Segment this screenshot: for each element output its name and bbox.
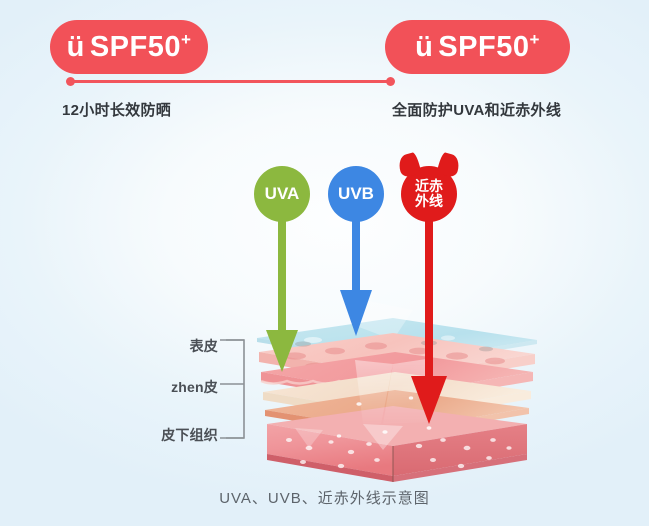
spf-badge-left: üSPF50+ xyxy=(50,20,208,74)
spf-badge-right: üSPF50+ xyxy=(385,20,570,74)
spf-badge-left-superscript: + xyxy=(181,30,191,50)
poster-canvas: üSPF50+ üSPF50+ 12小时长效防晒 全面防护UVA和近赤外线 xyxy=(0,0,649,526)
connector-dot-left xyxy=(66,77,75,86)
feature-caption-right: 全面防护UVA和近赤外线 xyxy=(392,99,561,120)
devil-horn-left-icon xyxy=(396,152,421,179)
check-mark-icon: ü xyxy=(415,31,433,64)
spf-badge-right-superscript: + xyxy=(529,30,539,50)
spf-badge-right-label: SPF50 xyxy=(438,31,529,64)
infrared-marker: 近赤 外线 xyxy=(401,166,457,222)
infrared-label-line2: 外线 xyxy=(415,194,443,209)
connector-dot-right xyxy=(386,77,395,86)
uva-label: UVA xyxy=(265,185,300,203)
uvb-marker-head: UVB xyxy=(328,166,384,222)
uvb-label: UVB xyxy=(338,185,374,203)
feature-caption-left: 12小时长效防晒 xyxy=(62,99,171,120)
spf-badge-left-label: SPF50 xyxy=(90,31,181,64)
infrared-label-line1: 近赤 xyxy=(415,179,443,194)
infrared-ray-arrow xyxy=(409,190,449,440)
infrared-marker-head: 近赤 外线 xyxy=(401,166,457,222)
uva-marker: UVA xyxy=(254,166,310,222)
check-mark-icon: ü xyxy=(67,31,85,64)
diagram-caption: UVA、UVB、近赤外线示意图 xyxy=(0,487,649,508)
devil-horn-right-icon xyxy=(436,152,461,179)
uva-marker-head: UVA xyxy=(254,166,310,222)
badge-connector-line xyxy=(68,80,393,83)
uvb-marker: UVB xyxy=(328,166,384,222)
skin-layer-bracket xyxy=(136,330,256,450)
